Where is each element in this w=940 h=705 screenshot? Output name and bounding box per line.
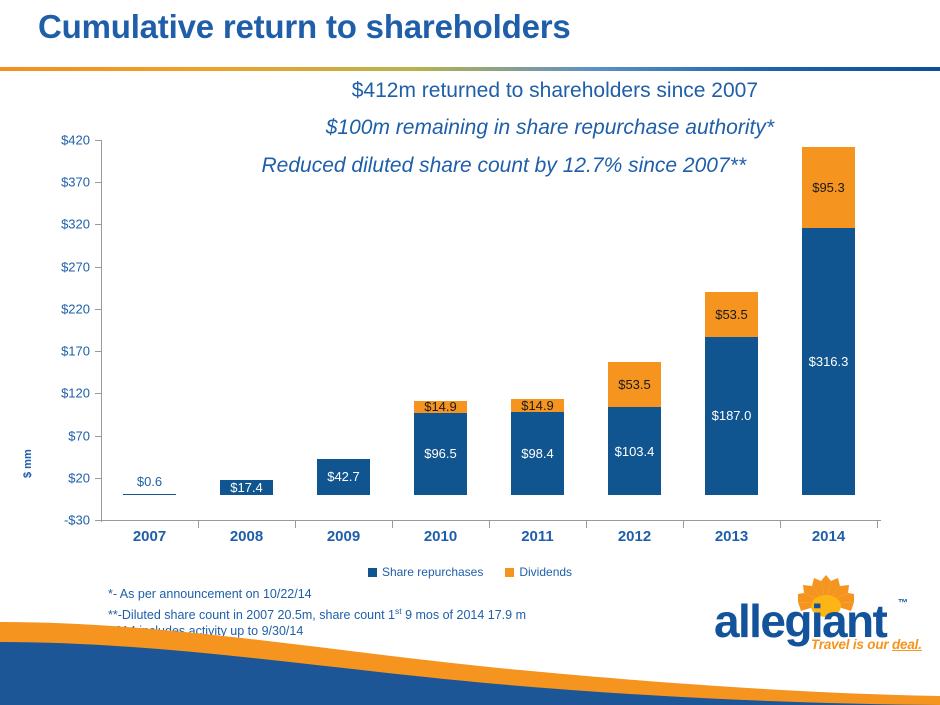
legend-item[interactable]: Share repurchases	[368, 565, 483, 579]
bar-segment-share-repurchases[interactable]: $17.4	[220, 480, 273, 495]
y-axis-tick-label: $20	[28, 470, 90, 485]
bar-value-label: $53.5	[618, 377, 651, 392]
bar-value-label: $14.9	[521, 398, 554, 413]
title-divider-rule	[0, 67, 940, 71]
bar-group[interactable]: $98.4$14.92011	[489, 130, 586, 570]
bar-segment-dividends[interactable]: $53.5	[608, 362, 661, 407]
y-axis-tick-label: $370	[28, 175, 90, 190]
x-axis-tick-label: 2012	[586, 528, 683, 545]
bar-segment-dividends[interactable]: $14.9	[414, 401, 467, 414]
logo-tagline: Travel is our deal.	[811, 637, 922, 652]
bar-group[interactable]: $316.3$95.32014	[780, 130, 877, 570]
y-axis-tick-label: $320	[28, 217, 90, 232]
bar-segment-share-repurchases[interactable]: $42.7	[317, 459, 370, 495]
bar-segment-dividends[interactable]: $14.9	[511, 399, 564, 412]
y-axis-tick-label: $70	[28, 428, 90, 443]
logo-tagline-part-b: deal.	[892, 637, 922, 652]
bar-value-label: $17.4	[230, 480, 263, 495]
x-axis-tick-label: 2009	[295, 528, 392, 545]
y-axis-tick-label: $420	[28, 133, 90, 148]
y-axis-tick-label: $270	[28, 259, 90, 274]
y-axis-tick-label: $120	[28, 386, 90, 401]
bar-group[interactable]: $42.72009	[295, 130, 392, 570]
bar-segment-share-repurchases[interactable]	[123, 494, 176, 495]
legend-label: Share repurchases	[382, 565, 483, 579]
logo-tagline-part-a: Travel is our	[811, 637, 892, 652]
bar-group[interactable]: $96.5$14.92010	[392, 130, 489, 570]
legend-label: Dividends	[519, 565, 572, 579]
page-title: Cumulative return to shareholders	[38, 8, 571, 46]
bar-segment-share-repurchases[interactable]: $96.5	[414, 413, 467, 494]
x-axis-tick-label: 2008	[198, 528, 295, 545]
bar-segment-share-repurchases[interactable]: $316.3	[802, 228, 855, 495]
bar-value-label: $53.5	[715, 307, 748, 322]
bar-value-label: $42.7	[327, 469, 360, 484]
bar-value-label: $96.5	[424, 446, 457, 461]
slide: Cumulative return to shareholders $412m …	[0, 0, 940, 705]
bar-segment-share-repurchases[interactable]: $103.4	[608, 407, 661, 494]
stacked-bar-chart: $ mm $420$370$320$270$220$170$120$70$20-…	[0, 130, 940, 570]
x-axis-tick-label: 2011	[489, 528, 586, 545]
x-axis-tick-label: 2014	[780, 528, 877, 545]
allegiant-logo: allegiant ™ Travel is our deal.	[714, 578, 926, 650]
y-axis-tick-label: $220	[28, 301, 90, 316]
bar-value-label: $95.3	[812, 180, 845, 195]
bar-segment-share-repurchases[interactable]: $98.4	[511, 412, 564, 495]
x-axis-tick-label: 2007	[101, 528, 198, 545]
bar-value-label: $0.6	[101, 474, 198, 489]
legend-item[interactable]: Dividends	[505, 565, 572, 579]
x-axis-tick-label: 2013	[683, 528, 780, 545]
bar-group[interactable]: $187.0$53.52013	[683, 130, 780, 570]
subtitle-line-1: $412m returned to shareholders since 200…	[0, 79, 758, 103]
bar-value-label: $316.3	[809, 354, 849, 369]
y-axis-tick-label: -$30	[28, 513, 90, 528]
trademark-icon: ™	[898, 598, 908, 609]
x-axis-tickmark	[877, 521, 878, 528]
y-axis-tick-labels: $420$370$320$270$220$170$120$70$20-$30	[28, 130, 90, 570]
bar-group[interactable]: $17.42008	[198, 130, 295, 570]
bar-value-label: $98.4	[521, 446, 554, 461]
legend-color-swatch	[505, 568, 514, 577]
bar-group[interactable]: $103.4$53.52012	[586, 130, 683, 570]
x-axis-tick-label: 2010	[392, 528, 489, 545]
bar-segment-share-repurchases[interactable]: $187.0	[705, 337, 758, 495]
page-number: 29	[899, 678, 916, 695]
bar-group[interactable]: $0.62007	[101, 130, 198, 570]
bar-segment-dividends[interactable]: $95.3	[802, 147, 855, 227]
bar-value-label: $103.4	[615, 444, 655, 459]
bar-value-label: $187.0	[712, 408, 752, 423]
bar-value-label: $14.9	[424, 399, 457, 414]
legend-color-swatch	[368, 568, 377, 577]
bar-segment-dividends[interactable]: $53.5	[705, 292, 758, 337]
y-axis-tick-label: $170	[28, 344, 90, 359]
